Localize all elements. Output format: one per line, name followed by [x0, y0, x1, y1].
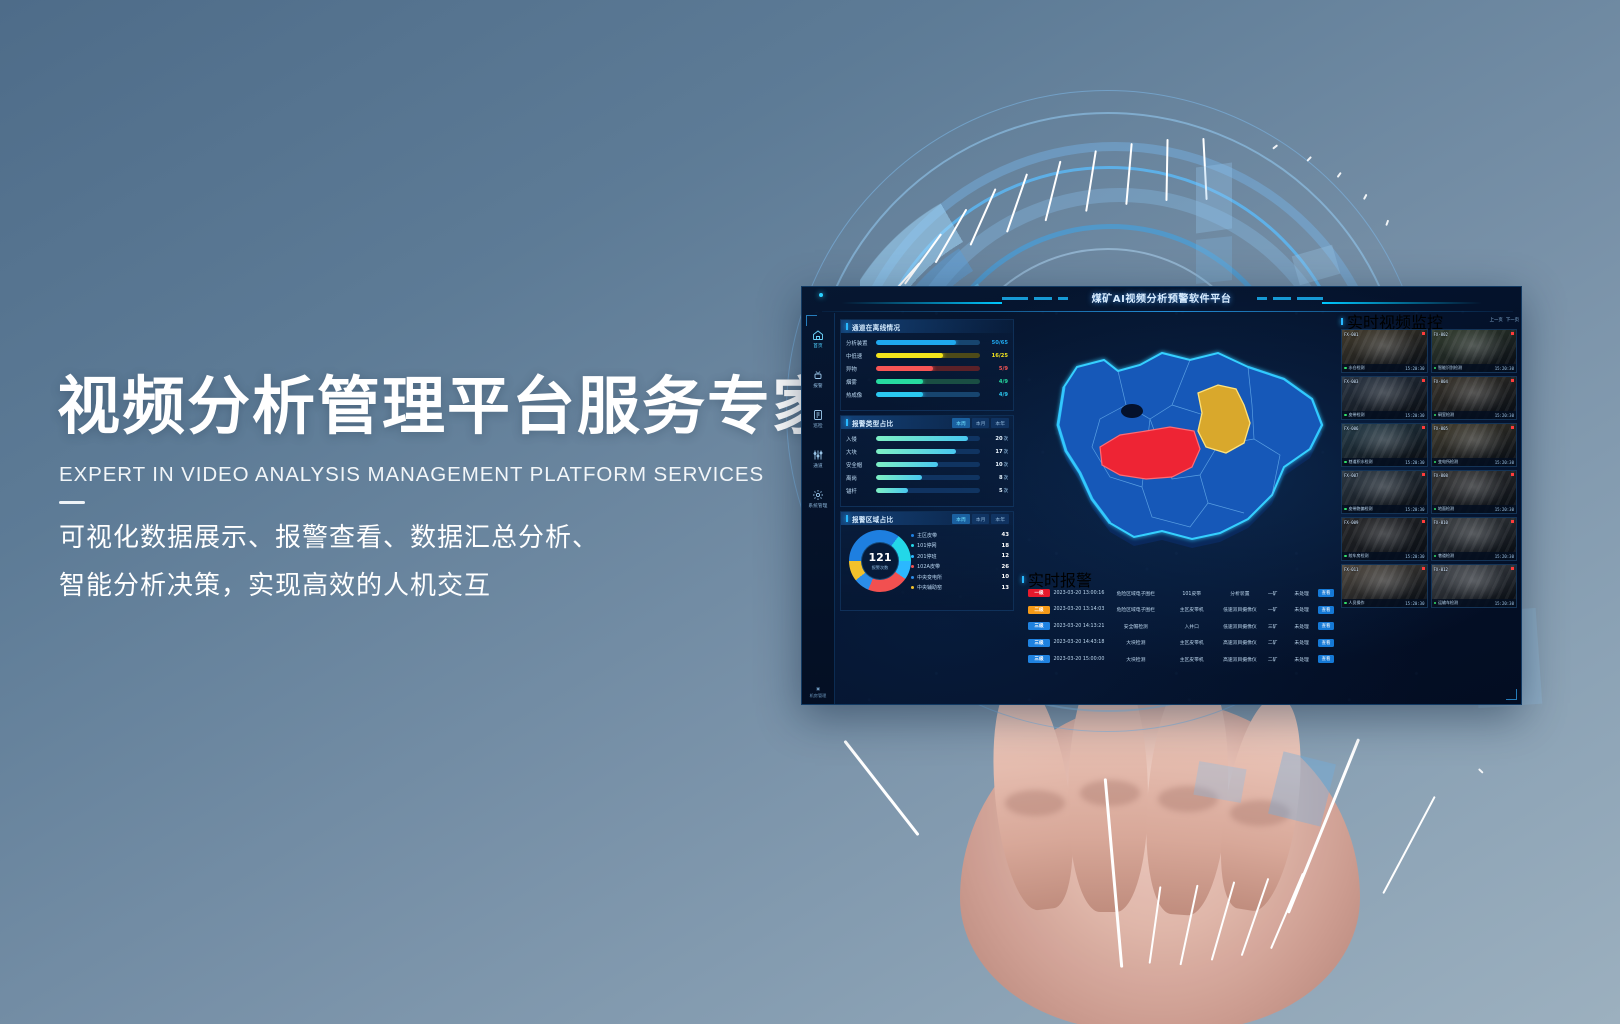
- video-footer: 巷道检测15:20:30: [1432, 552, 1517, 560]
- record-indicator: [1511, 520, 1514, 523]
- alarm-type-label: 安全帽: [846, 461, 872, 469]
- alarm-type-fill: [876, 449, 956, 454]
- channel-row: 异物5/9: [841, 362, 1013, 375]
- alarm-type-track: [876, 462, 980, 467]
- alarm-area-header: 报警区域占比 本周本月本年: [841, 512, 1013, 525]
- hero-desc-line2: 智能分析决策，实现高效的人机交互: [59, 562, 817, 610]
- table-cell: 高速双目摄像仪: [1220, 656, 1260, 663]
- alarm-type-tab[interactable]: 本周: [952, 418, 970, 428]
- table-cell: 大块检测: [1108, 639, 1164, 646]
- legend-dot: [911, 534, 914, 537]
- channel-row-track: [876, 340, 980, 345]
- video-tile[interactable]: FX-001水仓检测15:20:30: [1341, 329, 1428, 373]
- video-time: 15:20:30: [1405, 460, 1424, 465]
- alarm-level-badge: 一级: [1028, 589, 1050, 597]
- alarm-type-tabs[interactable]: 本周本月本年: [952, 418, 1009, 428]
- channel-row-label: 分析装置: [846, 339, 872, 347]
- alarm-type-label: 锚杆: [846, 487, 872, 495]
- video-tile[interactable]: FX-002智能识别检测15:20:30: [1431, 329, 1518, 373]
- video-time: 15:20:30: [1405, 601, 1424, 606]
- table-row[interactable]: 三级2023-03-20 14:13:21安全帽检测入井口低速双目摄像仪三矿未处…: [1022, 618, 1340, 635]
- alarm-type-value: 17次: [984, 449, 1008, 455]
- alarm-type-track: [876, 436, 980, 441]
- alarm-area-donut: 121 报警次数: [849, 530, 911, 592]
- video-code: FX-007: [1344, 473, 1358, 478]
- video-code: FX-009: [1344, 520, 1358, 525]
- alarm-type-row: 大块17次: [841, 445, 1013, 458]
- table-cell: 入井口: [1164, 623, 1220, 630]
- status-led: [1434, 461, 1437, 464]
- donut-value: 121: [869, 552, 892, 563]
- sidebar-label-system: 系统管理: [808, 503, 827, 509]
- video-name: 巷道检测: [1434, 553, 1455, 559]
- alarm-type-header: 报警类型占比 本周本月本年: [841, 416, 1013, 429]
- table-cell: 低速双目摄像仪: [1220, 606, 1260, 613]
- view-button[interactable]: 查看: [1318, 622, 1334, 630]
- legend-row: 101停网18: [911, 541, 1009, 552]
- video-name: 水仓检测: [1344, 365, 1365, 371]
- sidebar-footer: ▣ 机房管理: [802, 686, 834, 699]
- video-footer: 绞车房检测15:20:30: [1342, 552, 1427, 560]
- legend-label: 主区皮带: [917, 532, 998, 539]
- video-footer: 皮带检测15:20:30: [1342, 411, 1427, 419]
- table-cell: 主区皮带机: [1164, 606, 1220, 613]
- video-footer: 硐室检测15:20:30: [1432, 411, 1517, 419]
- record-indicator: [1422, 473, 1425, 476]
- video-footer: 巷道积水检测15:20:30: [1342, 458, 1427, 466]
- legend-row: 主区皮带43: [911, 530, 1009, 541]
- legend-value: 10: [1001, 574, 1009, 580]
- channel-row-value: 16/25: [984, 353, 1008, 359]
- legend-label: 中央变电所: [917, 574, 998, 581]
- video-time: 15:20:30: [1405, 366, 1424, 371]
- record-indicator: [1422, 567, 1425, 570]
- donut-center: 121 报警次数: [861, 542, 899, 580]
- dashboard-sidebar[interactable]: 首页 报警 巡检 通道: [802, 313, 835, 704]
- legend-row: 中央辅助窑13: [911, 583, 1009, 594]
- table-cell: 未处理: [1285, 606, 1318, 613]
- channel-row-track: [876, 366, 980, 371]
- table-cell: 未处理: [1285, 656, 1318, 663]
- alarm-type-label: 大块: [846, 448, 872, 456]
- table-cell: 二矿: [1260, 656, 1285, 663]
- video-time: 15:20:30: [1495, 460, 1514, 465]
- alarm-area-tab[interactable]: 本周: [952, 514, 970, 524]
- channel-row-fill: [876, 379, 923, 384]
- legend-row: 102A皮带26: [911, 562, 1009, 573]
- status-led: [1344, 414, 1347, 417]
- table-cell: 2023-03-20 14:43:18: [1050, 640, 1108, 645]
- video-footer: 水仓检测15:20:30: [1342, 364, 1427, 372]
- video-next-page[interactable]: 下一页: [1506, 317, 1519, 323]
- alarm-level-badge: 三级: [1028, 639, 1050, 647]
- video-pagination[interactable]: 上一页 下一页: [1490, 317, 1519, 323]
- channel-row-track: [876, 379, 980, 384]
- video-code: FX-002: [1434, 332, 1448, 337]
- video-name: 巷道积水检测: [1344, 459, 1373, 465]
- alarm-table-header: 实时报警: [1022, 573, 1340, 585]
- table-cell: 101皮带: [1164, 590, 1220, 597]
- table-cell: 分析装置: [1220, 590, 1260, 597]
- video-footer: 皮带跑偏检测15:20:30: [1342, 505, 1427, 513]
- table-cell: 安全帽检测: [1108, 623, 1164, 630]
- alarm-area-title: 报警区域占比: [852, 514, 893, 524]
- table-row[interactable]: 三级2023-03-20 14:43:18大块检测主区皮带机高速双目摄像仪二矿未…: [1022, 635, 1340, 652]
- alarm-level-badge: 三级: [1028, 622, 1050, 630]
- legend-value: 13: [1001, 585, 1009, 591]
- video-time: 15:20:30: [1495, 554, 1514, 559]
- video-code: FX-005: [1434, 426, 1448, 431]
- alarm-table-rows: 一级2023-03-20 13:00:16危险区域电子围栏101皮带分析装置一矿…: [1022, 585, 1340, 668]
- video-prev-page[interactable]: 上一页: [1490, 317, 1503, 323]
- legend-value: 18: [1001, 543, 1009, 549]
- table-cell: 2023-03-20 13:14:03: [1050, 607, 1108, 612]
- frame-corner-br: [1506, 689, 1517, 700]
- video-name: 皮带检测: [1344, 412, 1365, 418]
- alarm-type-fill: [876, 436, 968, 441]
- status-led: [1434, 367, 1437, 370]
- alarm-type-label: 离岗: [846, 474, 872, 482]
- video-time: 15:20:30: [1405, 507, 1424, 512]
- video-code: FX-001: [1344, 332, 1358, 337]
- table-cell: 2023-03-20 15:00:00: [1050, 657, 1108, 662]
- video-code: FX-011: [1344, 567, 1358, 572]
- video-name: 绞车房检测: [1344, 553, 1369, 559]
- status-led: [1344, 508, 1347, 511]
- record-indicator: [1511, 473, 1514, 476]
- alarm-type-track: [876, 488, 980, 493]
- video-code: FX-012: [1434, 567, 1448, 572]
- legend-row: 201停班12: [911, 551, 1009, 562]
- video-footer: 运输车检测15:20:30: [1432, 599, 1517, 607]
- video-name: 变电所检测: [1434, 459, 1459, 465]
- video-tile[interactable]: FX-007皮带跑偏检测15:20:30: [1341, 470, 1428, 514]
- alarm-type-tab[interactable]: 本月: [972, 418, 990, 428]
- legend-row: 中央变电所10: [911, 572, 1009, 583]
- table-cell: 大块检测: [1108, 656, 1164, 663]
- alarm-type-track: [876, 449, 980, 454]
- alarm-area-tab[interactable]: 本年: [991, 514, 1009, 524]
- table-cell: 一矿: [1260, 606, 1285, 613]
- record-indicator: [1422, 426, 1425, 429]
- legend-label: 102A皮带: [917, 563, 998, 570]
- channel-row-fill: [876, 340, 956, 345]
- alarm-type-panel: 报警类型占比 本周本月本年 入侵20次大块17次安全帽10次离岗8次锚杆5次: [840, 415, 1014, 507]
- table-cell: 未处理: [1285, 639, 1318, 646]
- frame-corner-tl: [806, 315, 817, 326]
- record-indicator: [1422, 520, 1425, 523]
- channel-icon: [812, 449, 824, 461]
- channel-row-value: 4/9: [984, 379, 1008, 385]
- sidebar-footer-label: 机房管理: [802, 693, 834, 699]
- sidebar-label-home: 首页: [813, 343, 823, 349]
- alarm-type-row: 锚杆5次: [841, 484, 1013, 497]
- alarm-area-tab[interactable]: 本月: [972, 514, 990, 524]
- table-cell: 危险区域电子围栏: [1108, 606, 1164, 613]
- alarm-type-label: 入侵: [846, 435, 872, 443]
- legend-value: 26: [1001, 564, 1009, 570]
- sidebar-item-channel[interactable]: 通道: [802, 439, 834, 479]
- status-led: [1344, 555, 1347, 558]
- alarm-area-legend: 主区皮带43101停网18201停班12102A皮带26中央变电所10中央辅助窑…: [911, 530, 1009, 593]
- alarm-type-row: 离岗8次: [841, 471, 1013, 484]
- channel-row-fill: [876, 353, 943, 358]
- record-indicator: [1511, 332, 1514, 335]
- alarm-type-fill: [876, 475, 922, 480]
- channel-row-fill: [876, 366, 933, 371]
- channel-row-track: [876, 353, 980, 358]
- record-indicator: [1511, 567, 1514, 570]
- view-button[interactable]: 查看: [1318, 589, 1334, 597]
- video-footer: 智能识别检测15:20:30: [1432, 364, 1517, 372]
- legend-label: 101停网: [917, 542, 998, 549]
- channel-panel-header: 通道在离线情况: [841, 320, 1013, 333]
- table-cell: 未处理: [1285, 623, 1318, 630]
- video-name: 地面检测: [1434, 506, 1455, 512]
- alarm-type-value: 20次: [984, 436, 1008, 442]
- alarm-table-title: 实时报警: [1028, 567, 1092, 591]
- legend-value: 12: [1001, 553, 1009, 559]
- channel-status-panel: 通道在离线情况 分析装置50/65中低速16/25异物5/9烟雾4/9热成像4/…: [840, 319, 1014, 411]
- hero-subtitle: EXPERT IN VIDEO ANALYSIS MANAGEMENT PLAT…: [59, 463, 817, 487]
- view-button[interactable]: 查看: [1318, 639, 1334, 647]
- video-time: 15:20:30: [1495, 507, 1514, 512]
- video-tile[interactable]: FX-006巷道积水检测15:20:30: [1341, 423, 1428, 467]
- channel-row-fill: [876, 392, 923, 397]
- sidebar-label-channel: 通道: [813, 463, 823, 469]
- alarm-level-badge: 三级: [1028, 655, 1050, 663]
- video-tile[interactable]: FX-003皮带检测15:20:30: [1341, 376, 1428, 420]
- table-row[interactable]: 三级2023-03-20 15:00:00大块检测主区皮带机高速双目摄像仪二矿未…: [1022, 651, 1340, 668]
- alarm-level-badge: 二级: [1028, 606, 1050, 614]
- record-indicator: [1422, 379, 1425, 382]
- legend-dot: [911, 544, 914, 547]
- table-cell: 二矿: [1260, 639, 1285, 646]
- alarm-area-panel: 报警区域占比 本周本月本年 121 报警次数 主区皮带43101停网18201停…: [840, 511, 1014, 611]
- alarm-type-row: 入侵20次: [841, 432, 1013, 445]
- view-button[interactable]: 查看: [1318, 655, 1334, 663]
- alarm-type-value: 8次: [984, 475, 1008, 481]
- gear-icon: [812, 489, 824, 501]
- channel-row-label: 中低速: [846, 352, 872, 360]
- table-cell: 主区皮带机: [1164, 639, 1220, 646]
- status-led: [1434, 602, 1437, 605]
- sidebar-label-inspection: 巡检: [813, 423, 823, 429]
- alarm-table-panel: 实时报警 一级2023-03-20 13:00:16危险区域电子围栏101皮带分…: [1022, 573, 1340, 668]
- alarm-type-value: 5次: [984, 488, 1008, 494]
- video-time: 15:20:30: [1495, 601, 1514, 606]
- record-indicator: [1422, 332, 1425, 335]
- channel-row-value: 5/9: [984, 366, 1008, 372]
- status-led: [1434, 508, 1437, 511]
- legend-label: 中央辅助窑: [917, 584, 998, 591]
- channel-row-label: 热成像: [846, 391, 872, 399]
- table-cell: 危险区域电子围栏: [1108, 590, 1164, 597]
- video-time: 15:20:30: [1405, 413, 1424, 418]
- video-tile[interactable]: FX-005变电所检测15:20:30: [1431, 423, 1518, 467]
- video-code: FX-008: [1434, 473, 1448, 478]
- status-led: [1434, 555, 1437, 558]
- table-cell: 未处理: [1285, 590, 1318, 597]
- status-led: [1434, 414, 1437, 417]
- video-tile[interactable]: FX-008地面检测15:20:30: [1431, 470, 1518, 514]
- legend-dot: [911, 555, 914, 558]
- video-footer: 地面检测15:20:30: [1432, 505, 1517, 513]
- home-icon: [812, 329, 824, 341]
- channel-row: 烟雾4/9: [841, 375, 1013, 388]
- video-tile[interactable]: FX-004硐室检测15:20:30: [1431, 376, 1518, 420]
- channel-row-value: 50/65: [984, 340, 1008, 346]
- video-name: 硐室检测: [1434, 412, 1455, 418]
- table-cell: 低速双目摄像仪: [1220, 623, 1260, 630]
- alarm-icon: [812, 369, 824, 381]
- table-cell: 2023-03-20 13:00:16: [1050, 591, 1108, 596]
- video-name: 皮带跑偏检测: [1344, 506, 1373, 512]
- video-time: 15:20:30: [1495, 413, 1514, 418]
- sidebar-label-alarm: 报警: [813, 383, 823, 389]
- video-code: FX-006: [1344, 426, 1358, 431]
- video-footer: 人员操作15:20:30: [1342, 599, 1427, 607]
- video-code: FX-010: [1434, 520, 1448, 525]
- alarm-type-value: 10次: [984, 462, 1008, 468]
- video-name: 智能识别检测: [1434, 365, 1463, 371]
- view-button[interactable]: 查看: [1318, 606, 1334, 614]
- sidebar-item-inspection[interactable]: 巡检: [802, 399, 834, 439]
- alarm-type-rows: 入侵20次大块17次安全帽10次离岗8次锚杆5次: [841, 429, 1013, 497]
- donut-label: 报警次数: [872, 565, 889, 571]
- record-indicator: [1511, 379, 1514, 382]
- video-name: 人员操作: [1344, 600, 1365, 606]
- alarm-type-tab[interactable]: 本年: [991, 418, 1009, 428]
- legend-label: 201停班: [917, 553, 998, 560]
- channel-row-label: 异物: [846, 365, 872, 373]
- video-tile[interactable]: FX-009绞车房检测15:20:30: [1341, 517, 1428, 561]
- video-name: 运输车检测: [1434, 600, 1459, 606]
- video-tile[interactable]: FX-012运输车检测15:20:30: [1431, 564, 1518, 608]
- legend-value: 43: [1001, 532, 1009, 538]
- table-cell: 一矿: [1260, 590, 1285, 597]
- channel-row: 热成像4/9: [841, 388, 1013, 401]
- channel-panel-title: 通道在离线情况: [852, 322, 900, 332]
- alarm-area-tabs[interactable]: 本周本月本年: [952, 514, 1009, 524]
- video-code: FX-003: [1344, 379, 1358, 384]
- channel-row-label: 烟雾: [846, 378, 872, 386]
- status-led: [1344, 602, 1347, 605]
- status-led: [1344, 461, 1347, 464]
- legend-dot: [911, 565, 914, 568]
- inspection-icon: [812, 409, 824, 421]
- status-led: [1344, 367, 1347, 370]
- hero-divider: [59, 501, 85, 504]
- alarm-type-fill: [876, 462, 938, 467]
- legend-dot: [911, 576, 914, 579]
- sidebar-item-alarm[interactable]: 报警: [802, 359, 834, 399]
- video-time: 15:20:30: [1495, 366, 1514, 371]
- page-stage: 视频分析管理平台服务专家 EXPERT IN VIDEO ANALYSIS MA…: [0, 0, 1620, 1024]
- alarm-type-title: 报警类型占比: [852, 418, 893, 428]
- table-cell: 主区皮带机: [1164, 656, 1220, 663]
- map-svg: [1022, 327, 1352, 572]
- hero-copy: 视频分析管理平台服务专家 EXPERT IN VIDEO ANALYSIS MA…: [57, 373, 817, 610]
- channel-rows: 分析装置50/65中低速16/25异物5/9烟雾4/9热成像4/9: [841, 333, 1013, 401]
- video-time: 15:20:30: [1405, 554, 1424, 559]
- channel-row-track: [876, 392, 980, 397]
- channel-row-value: 4/9: [984, 392, 1008, 398]
- alarm-type-fill: [876, 488, 908, 493]
- video-footer: 变电所检测15:20:30: [1432, 458, 1517, 466]
- page-title: 视频分析管理平台服务专家: [57, 373, 817, 441]
- video-grid: FX-001水仓检测15:20:30FX-002智能识别检测15:20:30FX…: [1341, 329, 1517, 608]
- sidebar-item-system[interactable]: 系统管理: [802, 479, 834, 519]
- video-tile[interactable]: FX-010巷道检测15:20:30: [1431, 517, 1518, 561]
- alarm-type-row: 安全帽10次: [841, 458, 1013, 471]
- record-indicator: [1511, 426, 1514, 429]
- video-code: FX-004: [1434, 379, 1448, 384]
- channel-row: 中低速16/25: [841, 349, 1013, 362]
- table-cell: 三矿: [1260, 623, 1285, 630]
- legend-dot: [911, 586, 914, 589]
- video-tile[interactable]: FX-011人员操作15:20:30: [1341, 564, 1428, 608]
- region-map[interactable]: [1022, 327, 1352, 572]
- alarm-type-track: [876, 475, 980, 480]
- table-cell: 2023-03-20 14:13:21: [1050, 624, 1108, 629]
- channel-row: 分析装置50/65: [841, 336, 1013, 349]
- dashboard-monitor: 煤矿AI视频分析预警软件平台 首页 报: [801, 286, 1522, 705]
- hero-desc-line1: 可视化数据展示、报警查看、数据汇总分析、: [59, 514, 817, 562]
- table-cell: 高速双目摄像仪: [1220, 639, 1260, 646]
- table-row[interactable]: 二级2023-03-20 13:14:03危险区域电子围栏主区皮带机低速双目摄像…: [1022, 602, 1340, 619]
